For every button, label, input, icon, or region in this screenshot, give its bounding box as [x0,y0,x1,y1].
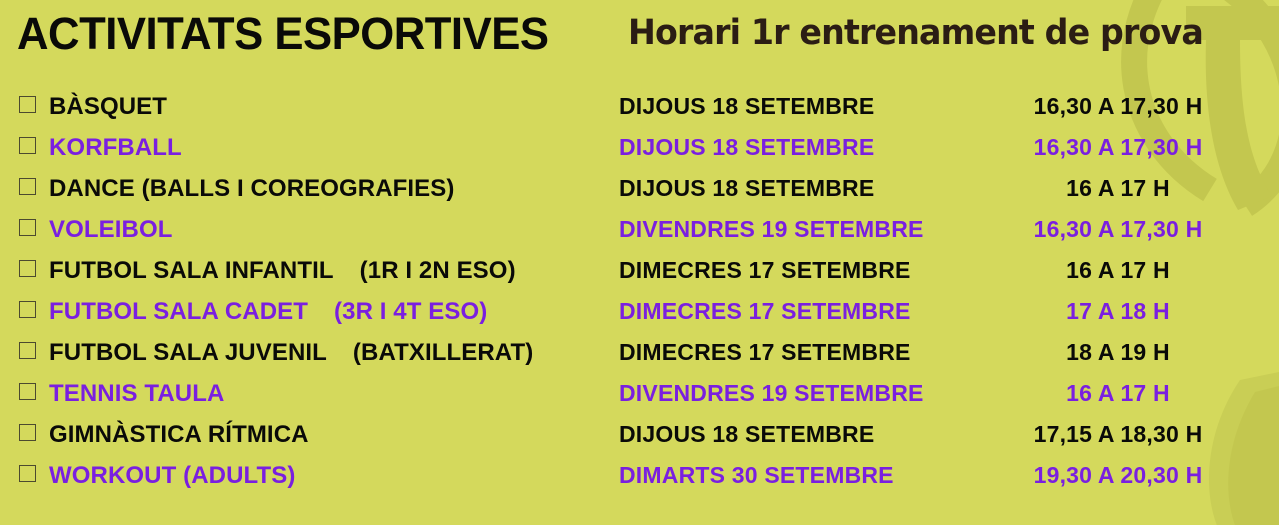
activity-checkbox[interactable] [19,301,36,318]
activity-name: FUTBOL SALA INFANTIL(1R I 2N ESO) [49,250,516,291]
session-time: 16 A 17 H [993,168,1243,209]
session-day: DIJOUS 18 SETEMBRE [619,127,874,168]
session-time: 16 A 17 H [993,250,1243,291]
session-day: DIMECRES 17 SETEMBRE [619,332,911,373]
activity-label: DANCE (BALLS I COREOGRAFIES) [49,175,454,202]
activity-level: (BATXILLERAT) [353,339,533,366]
session-time: 16 A 17 H [993,373,1243,414]
activity-name: BÀSQUET [49,86,167,127]
activity-checkbox[interactable] [19,137,36,154]
activity-checkbox[interactable] [19,342,36,359]
activity-label: KORFBALL [49,134,182,161]
activity-label: WORKOUT (ADULTS) [49,462,295,489]
activity-label: FUTBOL SALA INFANTIL [49,257,334,284]
session-time: 16,30 A 17,30 H [993,209,1243,250]
session-time: 18 A 19 H [993,332,1243,373]
schedule-row: GIMNÀSTICA RÍTMICADIJOUS 18 SETEMBRE17,1… [0,414,1279,455]
activity-checkbox[interactable] [19,96,36,113]
session-time: 17 A 18 H [993,291,1243,332]
schedule-subtitle: Horari 1r entrenament de prova [628,16,1203,51]
activity-checkbox[interactable] [19,260,36,277]
page-title: ACTIVITATS ESPORTIVES [17,11,548,56]
activity-name: DANCE (BALLS I COREOGRAFIES) [49,168,454,209]
activity-label: GIMNÀSTICA RÍTMICA [49,421,309,448]
schedule-row: VOLEIBOLDIVENDRES 19 SETEMBRE16,30 A 17,… [0,209,1279,250]
activity-name: GIMNÀSTICA RÍTMICA [49,414,309,455]
activity-label: TENNIS TAULA [49,380,224,407]
session-time: 19,30 A 20,30 H [993,455,1243,496]
session-day: DIMARTS 30 SETEMBRE [619,455,894,496]
session-day: DIMECRES 17 SETEMBRE [619,291,911,332]
session-time: 16,30 A 17,30 H [993,127,1243,168]
schedule-row: DANCE (BALLS I COREOGRAFIES)DIJOUS 18 SE… [0,168,1279,209]
session-day: DIJOUS 18 SETEMBRE [619,86,874,127]
activity-label: VOLEIBOL [49,216,172,243]
activity-name: KORFBALL [49,127,182,168]
session-time: 17,15 A 18,30 H [993,414,1243,455]
session-day: DIVENDRES 19 SETEMBRE [619,209,924,250]
activity-label: FUTBOL SALA JUVENIL [49,339,327,366]
schedule-row: WORKOUT (ADULTS)DIMARTS 30 SETEMBRE19,30… [0,455,1279,496]
activity-name: TENNIS TAULA [49,373,224,414]
activity-checkbox[interactable] [19,178,36,195]
schedule-row: BÀSQUETDIJOUS 18 SETEMBRE16,30 A 17,30 H [0,86,1279,127]
activity-checkbox[interactable] [19,465,36,482]
activity-name: FUTBOL SALA CADET(3R I 4T ESO) [49,291,487,332]
session-day: DIJOUS 18 SETEMBRE [619,168,874,209]
activity-label: BÀSQUET [49,93,167,120]
activity-checkbox[interactable] [19,219,36,236]
session-day: DIMECRES 17 SETEMBRE [619,250,911,291]
session-time: 16,30 A 17,30 H [993,86,1243,127]
activity-label: FUTBOL SALA CADET [49,298,308,325]
activity-name: VOLEIBOL [49,209,172,250]
activity-name: FUTBOL SALA JUVENIL(BATXILLERAT) [49,332,533,373]
schedule-row: TENNIS TAULADIVENDRES 19 SETEMBRE16 A 17… [0,373,1279,414]
poster-canvas: ACTIVITATS ESPORTIVES Horari 1r entrenam… [0,0,1279,525]
activity-level: (3R I 4T ESO) [334,298,487,325]
session-day: DIJOUS 18 SETEMBRE [619,414,874,455]
activity-checkbox[interactable] [19,383,36,400]
schedule-row: FUTBOL SALA INFANTIL(1R I 2N ESO)DIMECRE… [0,250,1279,291]
activity-level: (1R I 2N ESO) [360,257,516,284]
activity-name: WORKOUT (ADULTS) [49,455,295,496]
schedule-row: FUTBOL SALA CADET(3R I 4T ESO)DIMECRES 1… [0,291,1279,332]
activity-checkbox[interactable] [19,424,36,441]
schedule-row: FUTBOL SALA JUVENIL(BATXILLERAT)DIMECRES… [0,332,1279,373]
schedule-list: BÀSQUETDIJOUS 18 SETEMBRE16,30 A 17,30 H… [0,86,1279,496]
session-day: DIVENDRES 19 SETEMBRE [619,373,924,414]
schedule-row: KORFBALLDIJOUS 18 SETEMBRE16,30 A 17,30 … [0,127,1279,168]
poster-header: ACTIVITATS ESPORTIVES Horari 1r entrenam… [0,0,1279,82]
